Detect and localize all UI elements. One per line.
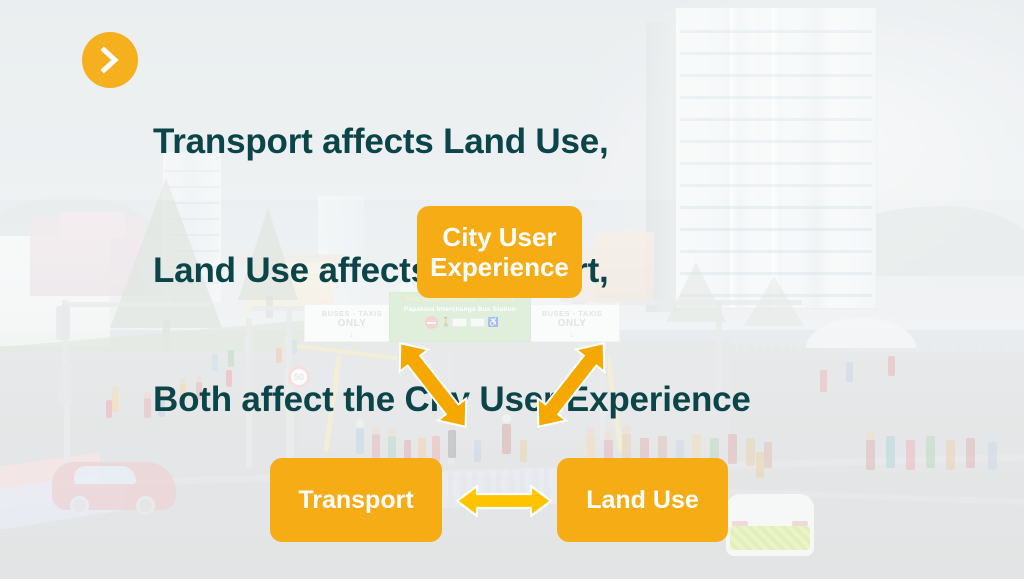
node-label-line-2: Experience bbox=[430, 252, 569, 282]
slide-canvas: BUSES - TAXIS ONLY ↓ BUSES - TAXIS ONLY … bbox=[0, 0, 1024, 579]
foreground-content: Transport affects Land Use, Land Use aff… bbox=[0, 0, 1024, 579]
connector-land-use-city-user-experience bbox=[530, 330, 612, 440]
chevron-right-icon bbox=[82, 32, 138, 88]
node-land-use[interactable]: Land Use bbox=[557, 458, 728, 542]
node-transport[interactable]: Transport bbox=[270, 458, 442, 542]
connector-transport-city-user-experience bbox=[392, 330, 474, 440]
node-city-user-experience[interactable]: City User Experience bbox=[417, 206, 582, 298]
connector-transport-land-use bbox=[455, 483, 553, 519]
title-line-1: Transport affects Land Use, bbox=[153, 120, 751, 163]
node-label-line-1: City User bbox=[430, 222, 569, 252]
